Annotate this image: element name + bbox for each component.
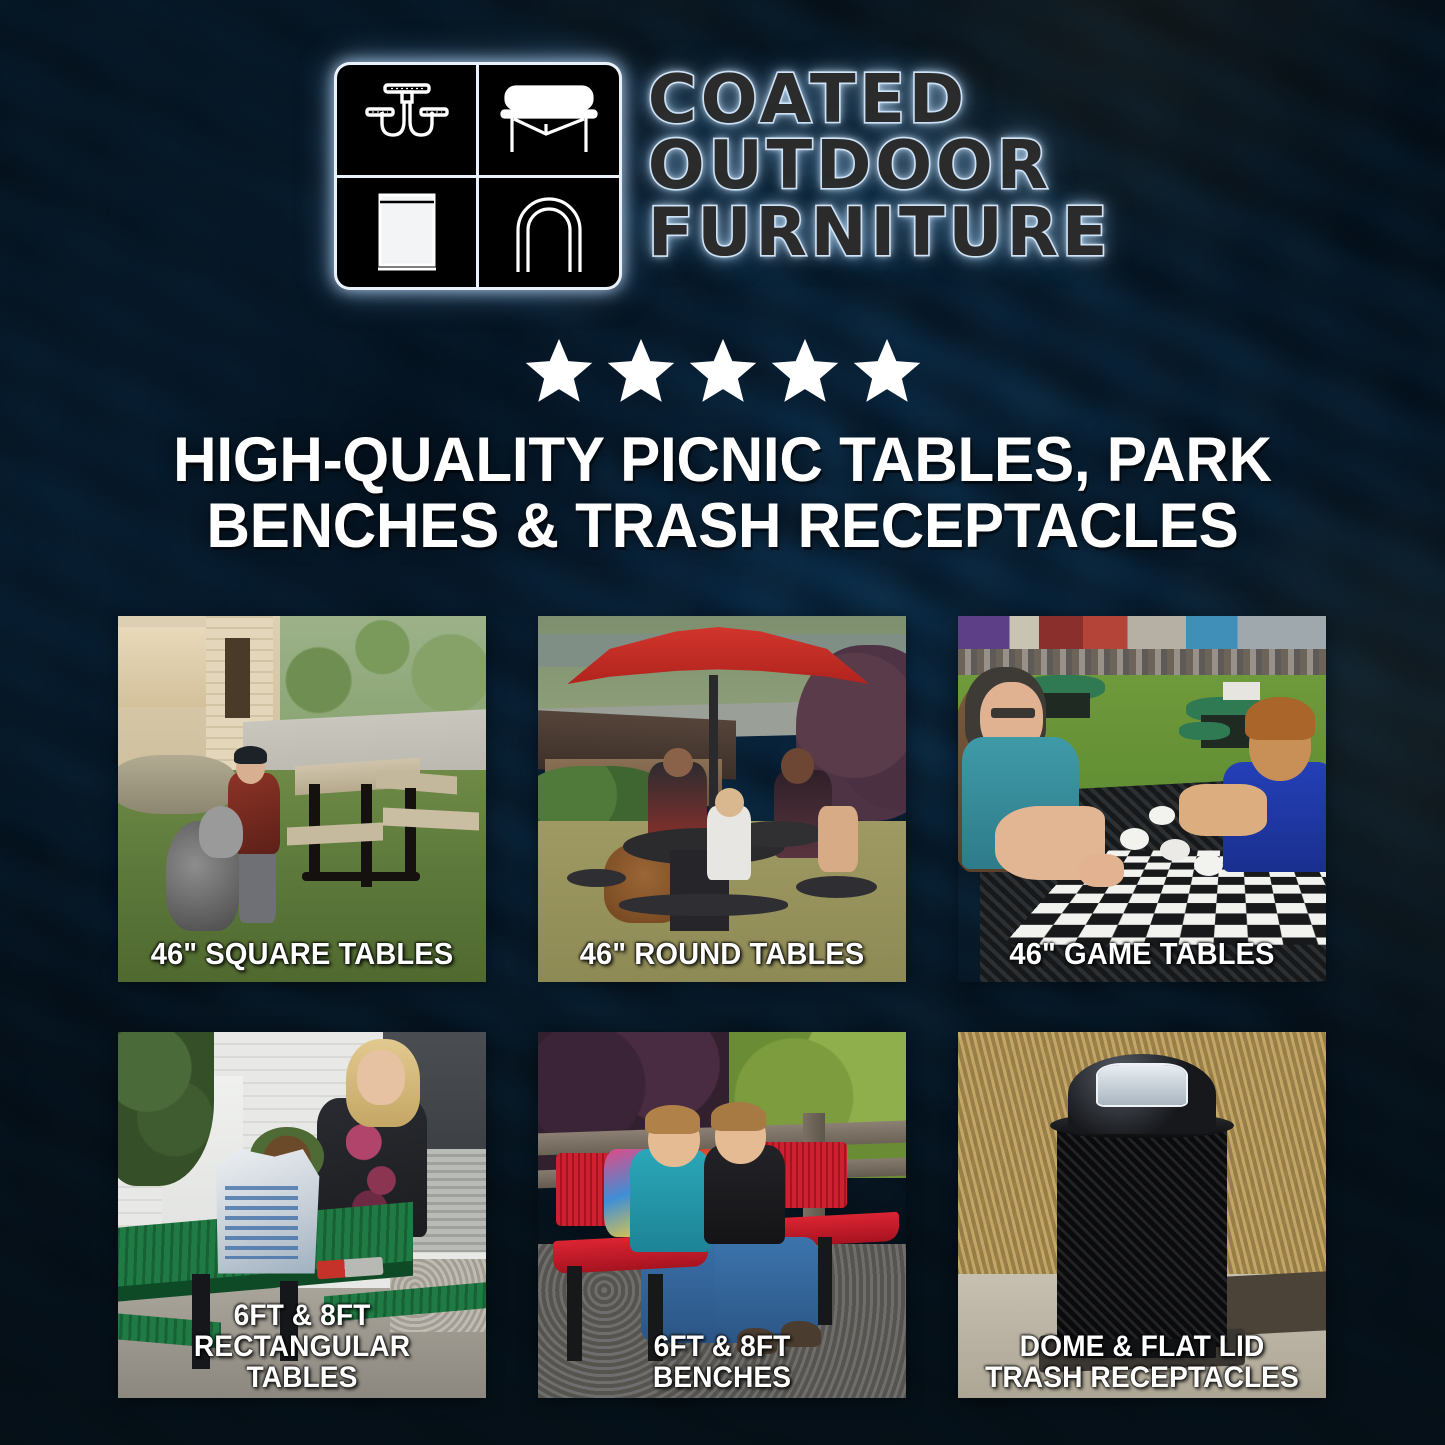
headline-line-2: BENCHES & TRASH RECEPTACLES [90,494,1355,560]
product-card-trash-receptacles[interactable]: DOME & FLAT LID TRASH RECEPTACLES [958,1032,1326,1398]
product-card-game-tables[interactable]: 46" GAME TABLES [958,616,1326,982]
logo-tile-bike-rack [479,178,619,288]
product-grid: 46" SQUARE TABLES 46" ROUND TABLES [118,616,1330,1398]
brand-header: COATED OUTDOOR FURNITURE [0,62,1445,290]
headline-line-1: HIGH-QUALITY PICNIC TABLES, PARK [90,428,1355,494]
logo-tile-picnic-table [337,65,477,175]
bike-rack-arch-icon [506,186,592,278]
product-card-benches[interactable]: 6FT & 8FT BENCHES [538,1032,906,1398]
star-icon [688,336,758,406]
star-icon [606,336,676,406]
product-caption: 46" ROUND TABLES [549,938,895,970]
product-photo-square-tables [118,616,486,982]
product-caption: 46" SQUARE TABLES [129,938,475,970]
brand-line-outdoor: OUTDOOR [648,132,1111,198]
trash-receptacle-icon [368,187,446,277]
product-caption: 6FT & 8FT RECTANGULAR TABLES [129,1301,475,1394]
star-icon [852,336,922,406]
star-icon [770,336,840,406]
product-photo-round-tables [538,616,906,982]
product-photo-game-tables [958,616,1326,982]
five-star-rating [0,336,1445,406]
caption-line-2: RECTANGULAR TABLES [135,1332,470,1394]
caption-line-1: 46" ROUND TABLES [555,938,890,970]
logo-tile-trash-receptacle [337,178,477,288]
brand-logo-mark[interactable] [334,62,622,290]
caption-line-1: 46" SQUARE TABLES [135,938,470,970]
brand-wordmark: COATED OUTDOOR FURNITURE [648,62,1111,265]
product-card-square-tables[interactable]: 46" SQUARE TABLES [118,616,486,982]
park-bench-icon [496,78,602,162]
star-icon [524,336,594,406]
brand-line-furniture: FURNITURE [648,199,1111,265]
product-card-rectangular-tables[interactable]: 6FT & 8FT RECTANGULAR TABLES [118,1032,486,1398]
product-card-round-tables[interactable]: 46" ROUND TABLES [538,616,906,982]
page-headline: HIGH-QUALITY PICNIC TABLES, PARK BENCHES… [90,428,1355,559]
logo-tile-bench [479,65,619,175]
brand-line-coated: COATED [648,66,1111,132]
caption-line-1: DOME & FLAT LID [975,1332,1310,1363]
caption-line-2: BENCHES [555,1363,890,1394]
caption-line-2: TRASH RECEPTACLES [975,1363,1310,1394]
caption-line-1: 6FT & 8FT [555,1332,890,1363]
product-caption: 46" GAME TABLES [969,938,1315,970]
product-caption: DOME & FLAT LID TRASH RECEPTACLES [969,1332,1315,1394]
caption-line-1: 6FT & 8FT [135,1301,470,1332]
picnic-table-icon [355,77,459,163]
product-caption: 6FT & 8FT BENCHES [549,1332,895,1394]
caption-line-1: 46" GAME TABLES [975,938,1310,970]
